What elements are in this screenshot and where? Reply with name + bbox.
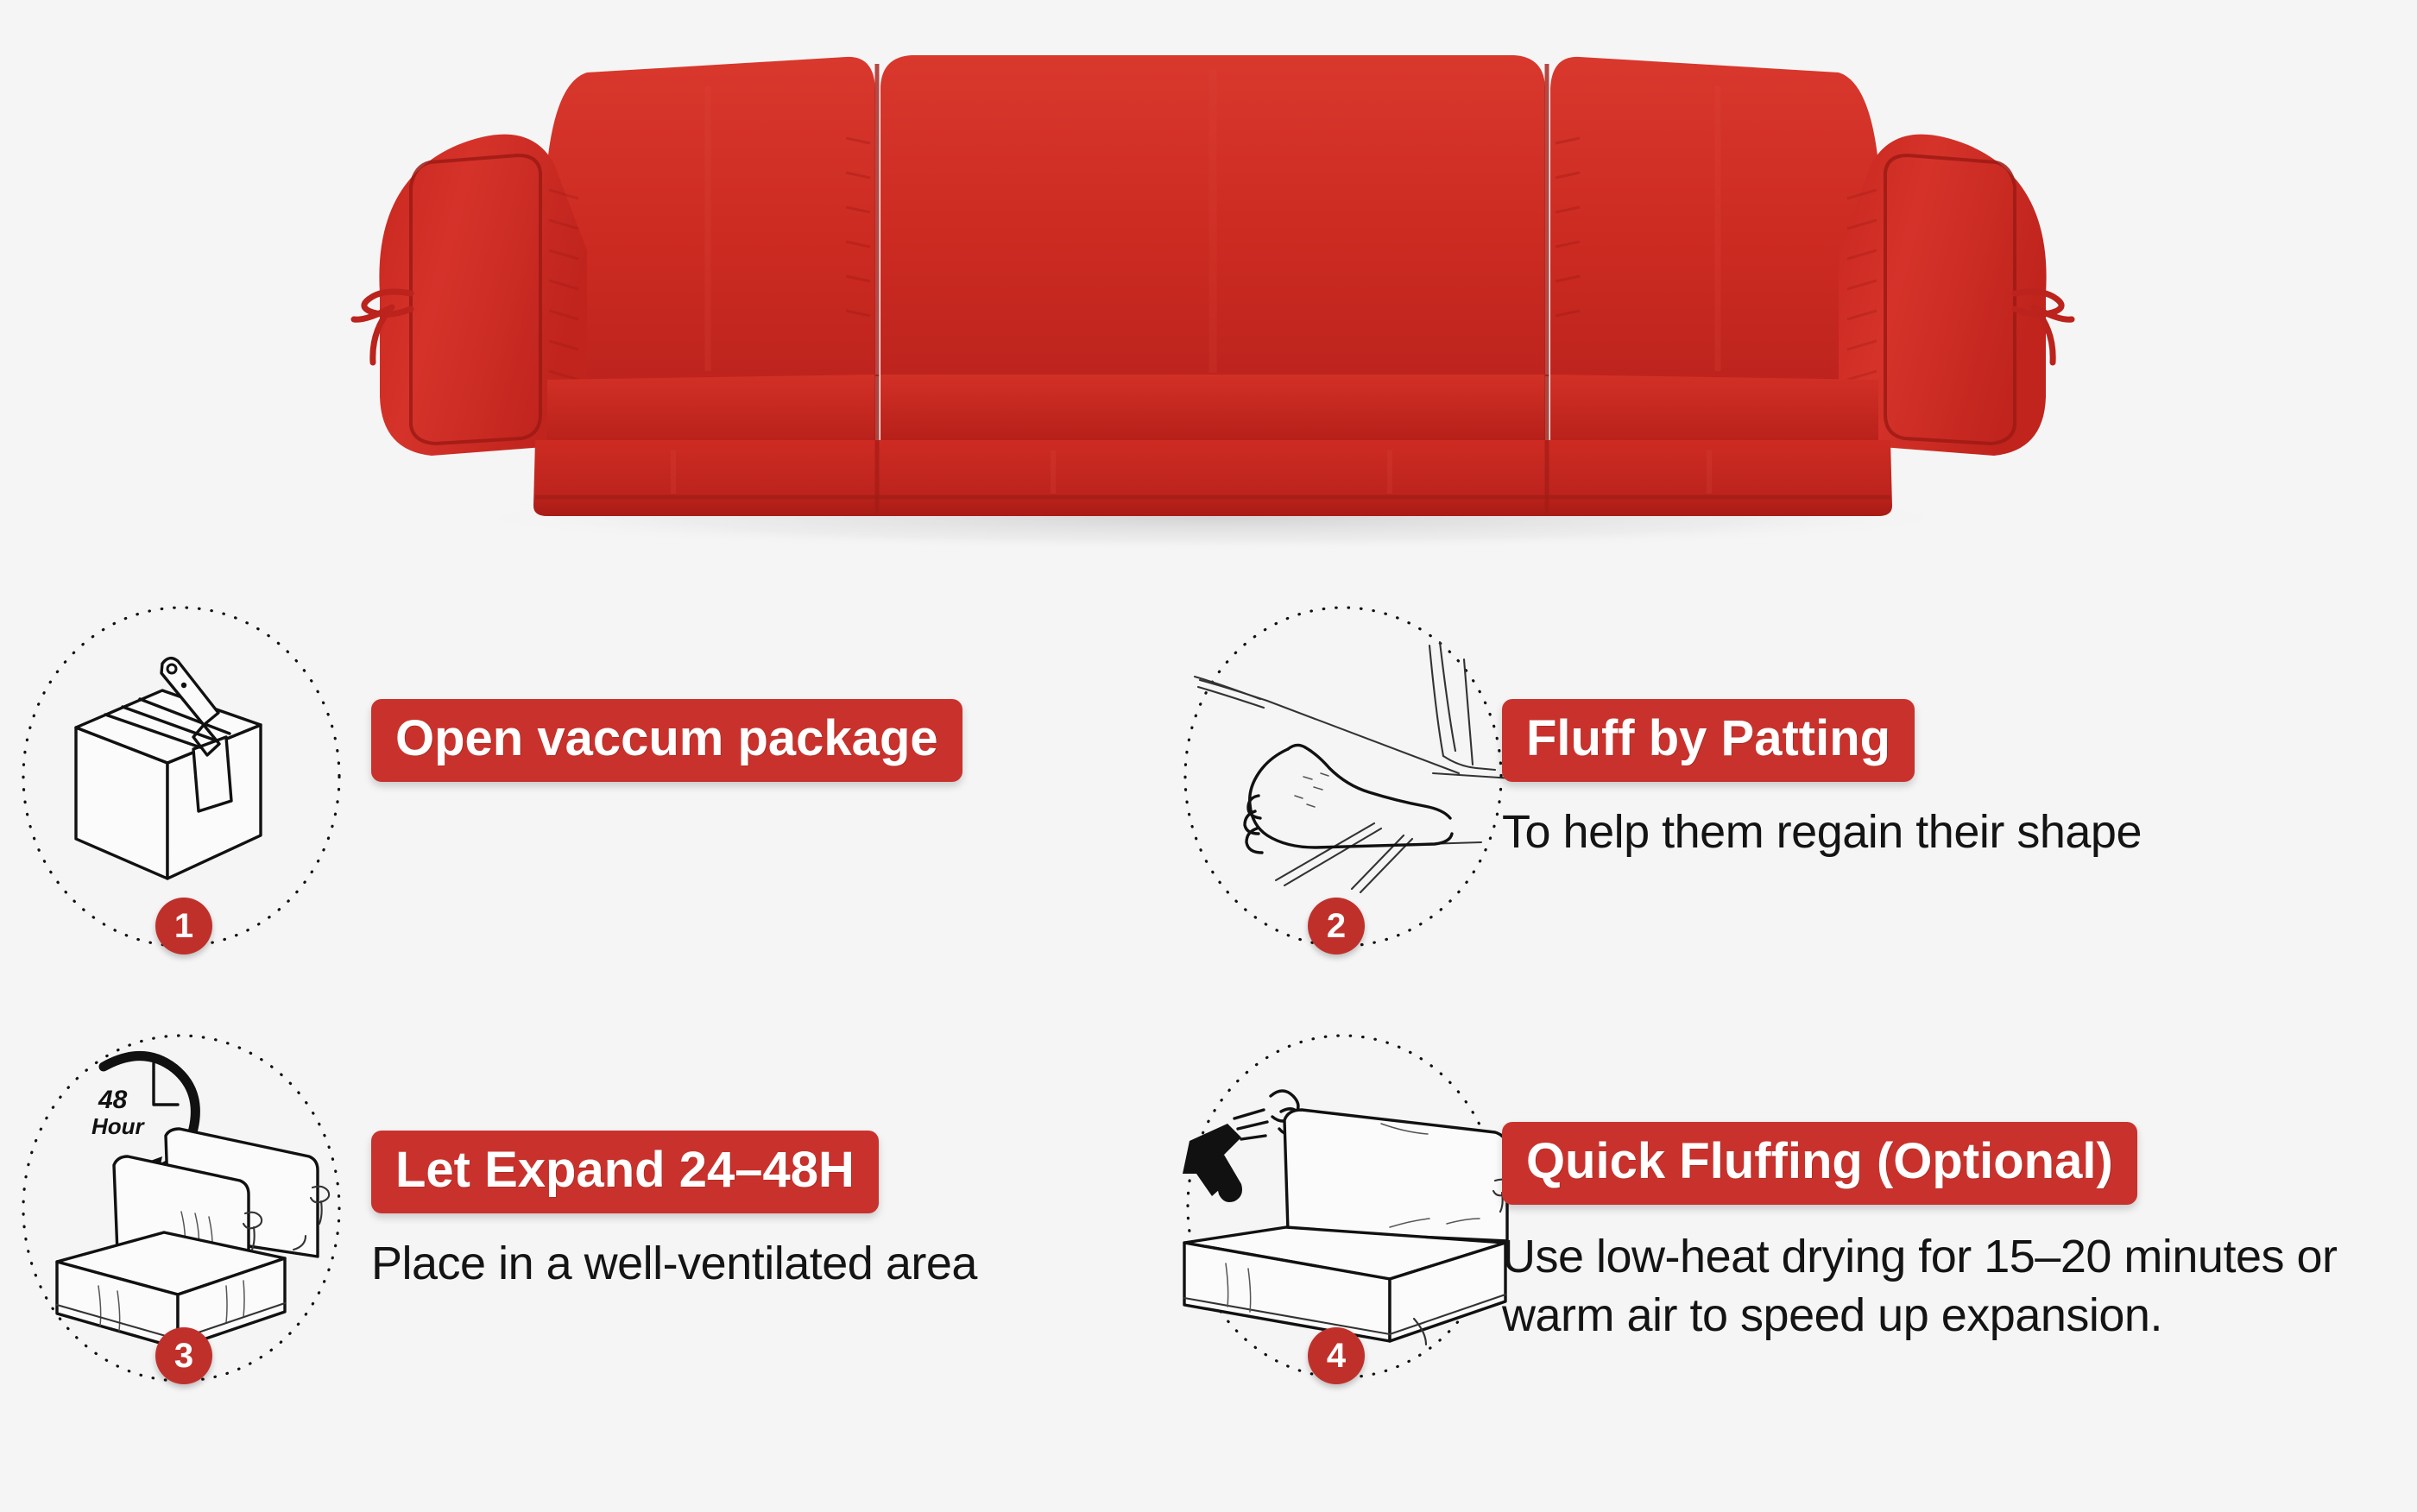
expanding-cushion-icon <box>57 1129 329 1348</box>
step-2-icon <box>1174 604 1519 949</box>
step-3-title: Let Expand 24–48H <box>371 1131 879 1213</box>
clock-hours-unit: Hour <box>92 1113 146 1139</box>
hero-product-image <box>0 0 2417 595</box>
step-2-subtitle: To help them regain their shape <box>1502 803 2408 861</box>
step-4: 4 Quick Fluffing (Optional) Use low-heat… <box>1174 1027 2408 1502</box>
step-number-badge: 2 <box>1308 898 1365 954</box>
step-4-title: Quick Fluffing (Optional) <box>1502 1122 2137 1205</box>
step-3-subtitle: Place in a well-ventilated area <box>371 1234 1165 1293</box>
dotted-circle-outline <box>1185 608 1501 946</box>
step-3: 48 Hour <box>9 1027 1165 1502</box>
step-1-body: Open vaccum package <box>371 699 1148 782</box>
step-4-subtitle: Use low-heat drying for 15–20 minutes or… <box>1502 1227 2408 1345</box>
step-number-badge: 4 <box>1308 1327 1365 1384</box>
step-4-body: Quick Fluffing (Optional) Use low-heat d… <box>1502 1122 2408 1345</box>
step-1-title: Open vaccum package <box>371 699 962 782</box>
infographic-page: 1 Open vaccum package <box>0 0 2417 1512</box>
step-2-title: Fluff by Patting <box>1502 699 1915 782</box>
step-3-body: Let Expand 24–48H Place in a well-ventil… <box>371 1131 1165 1293</box>
open-box-with-cutter-icon <box>76 658 261 879</box>
step-1: 1 Open vaccum package <box>9 604 1165 1027</box>
seat-cushions <box>547 375 1878 449</box>
clock-hours-value: 48 <box>98 1086 128 1114</box>
sofa-base <box>533 440 1892 516</box>
steps-grid: 1 Open vaccum package <box>0 595 2417 1512</box>
step-number-badge: 1 <box>155 898 212 954</box>
hand-patting-cushion-icon <box>1195 642 1512 892</box>
step-number-badge: 3 <box>155 1327 212 1384</box>
back-cushions <box>544 55 1882 381</box>
sofa-illustration <box>328 35 2098 578</box>
step-2-body: Fluff by Patting To help them regain the… <box>1502 699 2408 861</box>
step-2: 2 Fluff by Patting To help them regain t… <box>1174 604 2408 1027</box>
